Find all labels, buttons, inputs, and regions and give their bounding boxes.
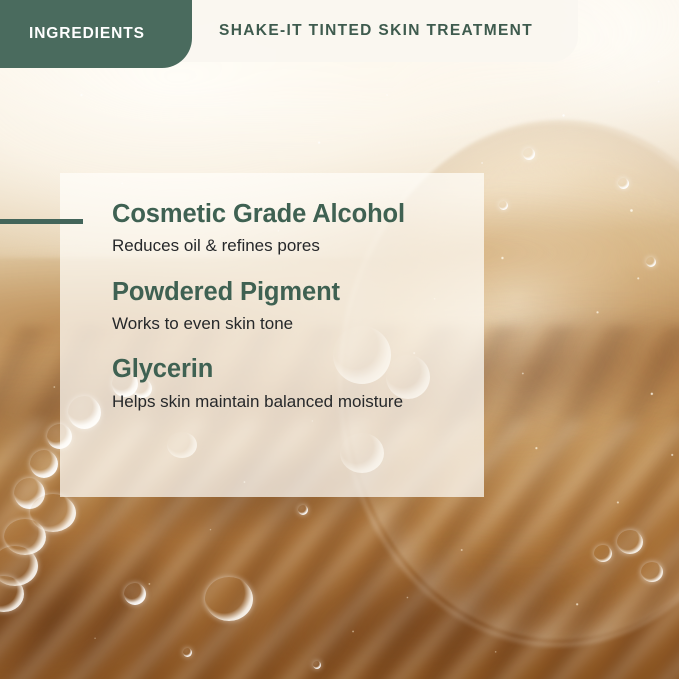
ingredient-description: Helps skin maintain balanced moisture (112, 392, 562, 412)
accent-rule (0, 219, 83, 224)
ingredients-infographic: Cosmetic Grade Alcohol Reduces oil & ref… (0, 0, 679, 679)
ingredient-description: Works to even skin tone (112, 314, 562, 334)
bubble-icon (183, 648, 192, 657)
ingredient-name: Cosmetic Grade Alcohol (112, 200, 562, 229)
list-item: Glycerin Helps skin maintain balanced mo… (112, 355, 562, 412)
bubble-icon (124, 583, 146, 605)
ingredients-list: Cosmetic Grade Alcohol Reduces oil & ref… (112, 200, 562, 412)
bubble-icon (205, 577, 253, 621)
bubble-icon (313, 661, 321, 669)
tab-ingredients[interactable]: INGREDIENTS (0, 0, 192, 68)
bubble-icon (30, 450, 58, 478)
list-item: Cosmetic Grade Alcohol Reduces oil & ref… (112, 200, 562, 257)
bubble-icon (617, 530, 643, 554)
list-item: Powdered Pigment Works to even skin tone (112, 278, 562, 335)
ingredient-name: Glycerin (112, 355, 562, 384)
ingredient-name: Powdered Pigment (112, 278, 562, 307)
ingredient-description: Reduces oil & refines pores (112, 236, 562, 256)
bubble-icon (298, 505, 308, 515)
bubble-icon (646, 257, 656, 267)
tab-ingredients-label: INGREDIENTS (29, 25, 145, 43)
bubble-icon (618, 178, 629, 189)
bubble-icon (594, 545, 612, 562)
product-title: SHAKE-IT TINTED SKIN TREATMENT (219, 0, 533, 62)
bubble-icon (523, 148, 535, 160)
bubble-icon (641, 562, 663, 582)
